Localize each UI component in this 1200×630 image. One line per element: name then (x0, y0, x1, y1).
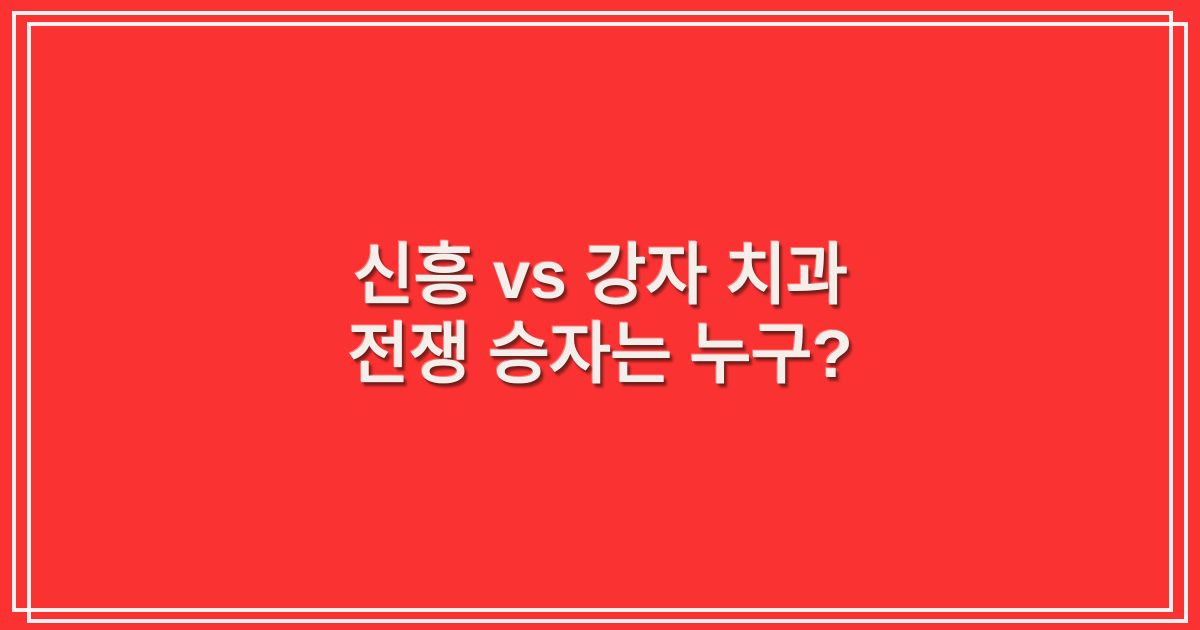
thumbnail-poster: 신흥 vs 강자 치과 전쟁 승자는 누구? (0, 0, 1200, 630)
headline-line-2: 전쟁 승자는 누구? (348, 315, 853, 394)
headline-container: 신흥 vs 강자 치과 전쟁 승자는 누구? (0, 0, 1200, 630)
headline-line-1: 신흥 vs 강자 치과 (348, 236, 853, 315)
page-title: 신흥 vs 강자 치과 전쟁 승자는 누구? (348, 236, 853, 394)
